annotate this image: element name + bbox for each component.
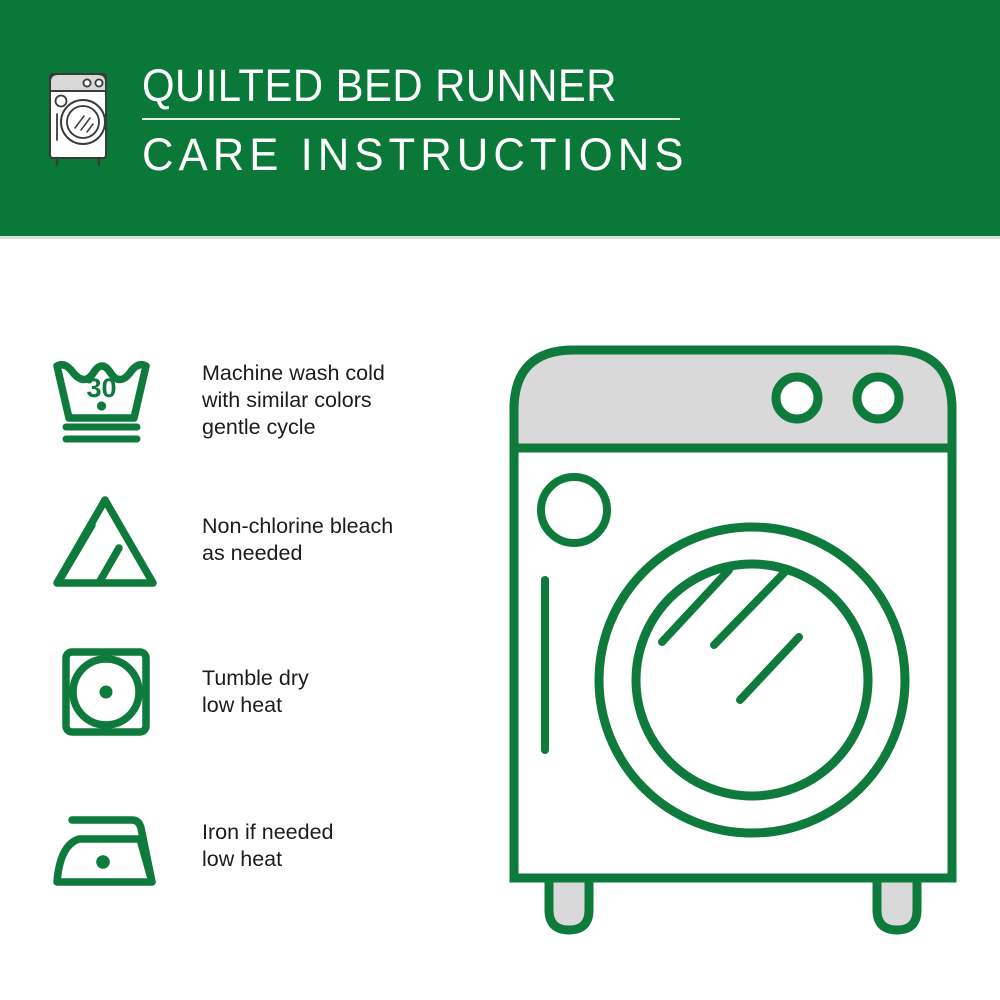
leg-left xyxy=(549,878,589,930)
knob-right xyxy=(857,377,899,419)
wash-temperature-value: 30 xyxy=(86,373,116,403)
care-text-line: with similar colors xyxy=(202,387,385,414)
tumble-dry-low-heat-icon xyxy=(46,640,164,744)
care-item-iron: Iron if needed low heat xyxy=(46,794,466,898)
care-instructions-infographic: QUILTED BED RUNNER CARE INSTRUCTIONS xyxy=(0,0,1000,1000)
leg-right xyxy=(877,878,917,930)
care-text-line: Non-chlorine bleach xyxy=(202,513,393,540)
header-content: QUILTED BED RUNNER CARE INSTRUCTIONS xyxy=(44,62,705,180)
care-text-line: gentle cycle xyxy=(202,414,385,441)
knob-left xyxy=(776,377,818,419)
wash-tub-30-gentle-icon: 30 xyxy=(46,348,164,452)
iron-low-heat-icon xyxy=(46,794,164,898)
bleach-triangle-non-chlorine-icon xyxy=(46,488,164,592)
care-item-machine-wash: 30 Machine wash cold with similar colors… xyxy=(46,348,466,452)
care-item-machine-wash-label: Machine wash cold with similar colors ge… xyxy=(202,360,385,441)
door-inner-ring xyxy=(636,564,868,796)
dispenser-circle xyxy=(541,477,607,543)
washing-machine-icon xyxy=(44,62,116,170)
care-text-line: low heat xyxy=(202,846,334,873)
care-item-iron-label: Iron if needed low heat xyxy=(202,819,334,873)
care-text-line: Machine wash cold xyxy=(202,360,385,387)
care-text-line: as needed xyxy=(202,540,393,567)
care-item-tumble-dry-label: Tumble dry low heat xyxy=(202,665,309,719)
header-underline-divider xyxy=(0,236,1000,239)
title-divider-rule xyxy=(142,118,680,120)
page-title-primary: QUILTED BED RUNNER xyxy=(142,62,666,116)
care-text-line: low heat xyxy=(202,692,309,719)
care-text-line: Tumble dry xyxy=(202,665,309,692)
care-item-bleach-label: Non-chlorine bleach as needed xyxy=(202,513,393,567)
care-item-tumble-dry: Tumble dry low heat xyxy=(46,640,466,744)
page-title-secondary: CARE INSTRUCTIONS xyxy=(142,130,689,180)
care-text-line: Iron if needed xyxy=(202,819,334,846)
washing-machine-illustration xyxy=(492,330,972,940)
care-item-bleach: Non-chlorine bleach as needed xyxy=(46,488,466,592)
header-title-group: QUILTED BED RUNNER CARE INSTRUCTIONS xyxy=(142,62,705,180)
